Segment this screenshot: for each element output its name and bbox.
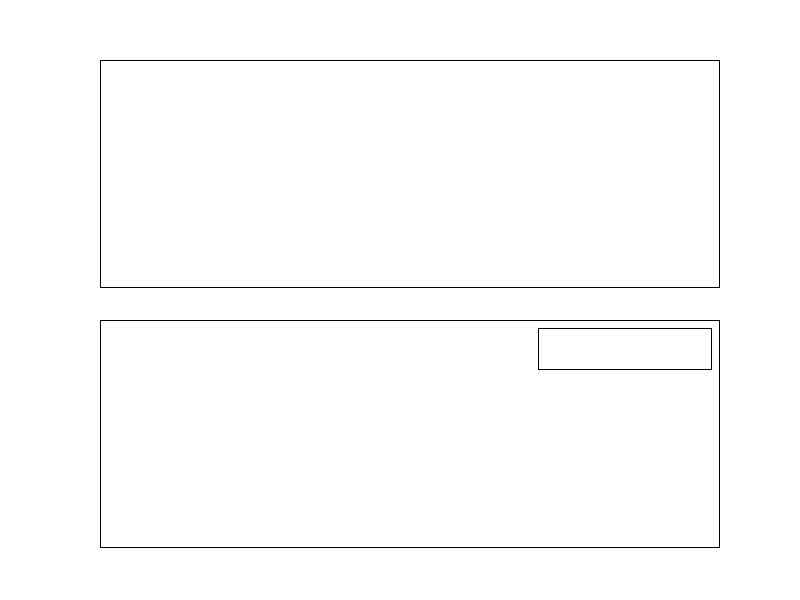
differential-histogram-axes (100, 60, 720, 288)
legend (538, 328, 712, 370)
figure (0, 0, 800, 600)
histogram-plot (101, 61, 719, 287)
mag-limit-line-swatch (549, 348, 591, 350)
